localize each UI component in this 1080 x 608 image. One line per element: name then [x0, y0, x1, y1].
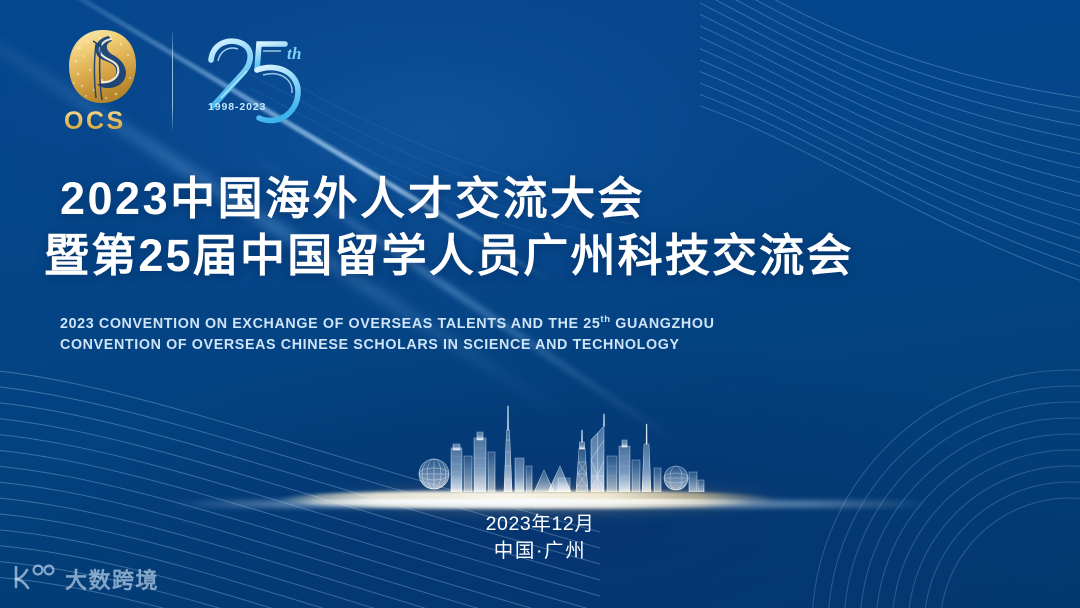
watermark-text: 大数跨境	[65, 563, 159, 595]
header-logo-row: OCS	[62, 28, 321, 140]
subtitle-text-b: GUANGZHOU	[611, 316, 715, 332]
divider	[172, 31, 173, 131]
poster-canvas: OCS	[0, 0, 1080, 608]
subtitle-ordinal: th	[600, 314, 610, 325]
event-place: 中国·广州	[0, 538, 1080, 566]
english-subtitle: 2023 CONVENTION ON EXCHANGE OF OVERSEAS …	[60, 313, 1040, 357]
english-subtitle-line-1: 2023 CONVENTION ON EXCHANGE OF OVERSEAS …	[60, 313, 1040, 335]
anniversary-ordinal: th	[287, 44, 302, 64]
page-title-line-1: 2023中国海外人才交流大会	[0, 170, 1080, 227]
ocs-logo: OCS	[62, 28, 150, 136]
subtitle-text-a: 2023 CONVENTION ON EXCHANGE OF OVERSEAS …	[60, 316, 600, 332]
anniversary-years: 1998-2023	[208, 101, 266, 113]
city-skyline-illustration	[0, 402, 1080, 502]
english-subtitle-line-2: CONVENTION OF OVERSEAS CHINESE SCHOLARS …	[60, 335, 1040, 357]
horizon-glow-tail	[170, 500, 930, 508]
anniversary-logo: th 1998-2023	[201, 30, 321, 138]
event-date: 2023年12月	[0, 511, 1080, 539]
event-date-block: 2023年12月 中国·广州	[0, 511, 1080, 566]
title-block: 2023中国海外人才交流大会 暨第25届中国留学人员广州科技交流会	[0, 170, 1080, 284]
dashu-kuajing-logo-icon	[10, 561, 56, 596]
page-title-line-2: 暨第25届中国留学人员广州科技交流会	[0, 227, 1080, 284]
ocs-crane-emblem-icon	[66, 28, 140, 106]
watermark: 大数跨境	[10, 561, 159, 596]
ocs-wordmark: OCS	[64, 107, 150, 136]
